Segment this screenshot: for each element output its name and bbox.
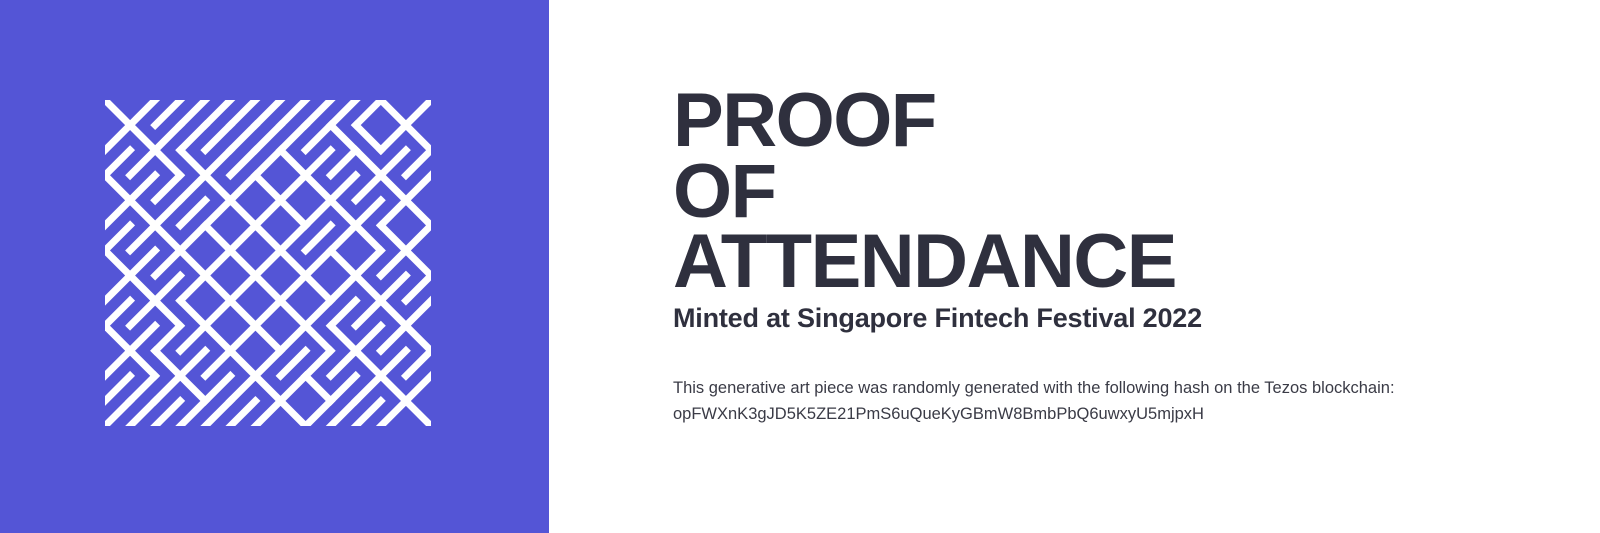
certificate-title-block: PROOF OF ATTENDANCE Minted at Singapore …: [673, 86, 1573, 334]
hash-description-block: This generative art piece was randomly g…: [673, 376, 1503, 427]
certificate-subtitle: Minted at Singapore Fintech Festival 202…: [673, 304, 1573, 334]
certificate-info-panel: PROOF OF ATTENDANCE Minted at Singapore …: [549, 0, 1600, 533]
proof-of-attendance-certificate: PROOF OF ATTENDANCE Minted at Singapore …: [0, 0, 1600, 533]
transaction-hash-value: opFWXnK3gJD5K5ZE21PmS6uQueKyGBmW8BmbPbQ6…: [673, 402, 1503, 428]
title-line-of: OF: [673, 157, 1573, 228]
generative-art-panel: [0, 0, 549, 533]
title-line-attendance: ATTENDANCE: [673, 227, 1573, 298]
hash-description-text: This generative art piece was randomly g…: [673, 376, 1503, 402]
title-line-proof: PROOF: [673, 86, 1573, 157]
generative-art-canvas: [105, 100, 431, 426]
